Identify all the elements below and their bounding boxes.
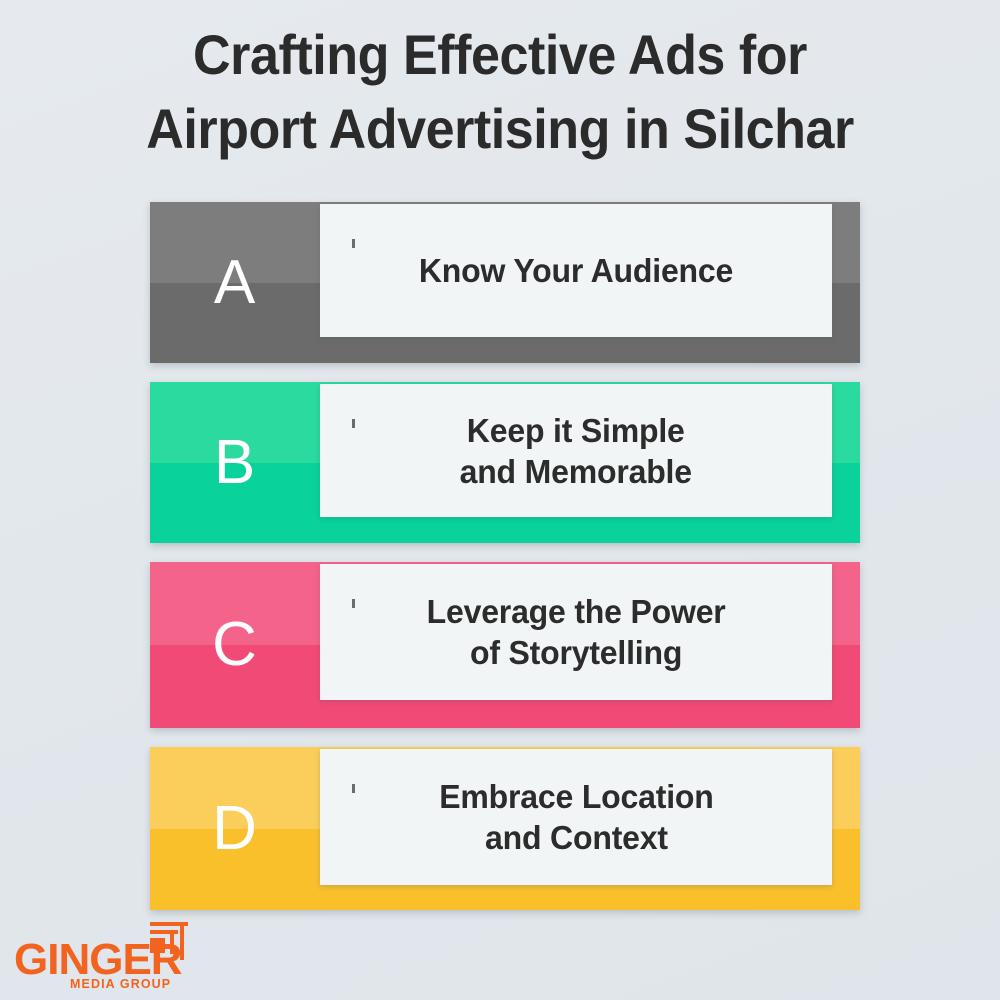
item-text-a: Know Your Audience [419,250,733,291]
title-line-1: Crafting Effective Ads for [35,18,965,92]
item-card-a: Know Your Audience [320,204,832,337]
list-item-b[interactable]: B Keep it Simple and Memorable [150,382,860,543]
list-item-a[interactable]: A Know Your Audience [150,202,860,363]
brand-logo: GINGER MEDIA GROUP [14,920,204,992]
item-text-d-line1: Embrace Location [439,776,713,817]
item-card-b: Keep it Simple and Memorable [320,384,832,517]
tick-mark-icon [352,419,355,428]
item-text-a-line1: Know Your Audience [419,250,733,291]
tick-mark-icon [352,599,355,608]
tips-list: A Know Your Audience B Keep it Simple an… [150,202,860,929]
item-letter-d: D [150,747,320,910]
infographic-canvas: Crafting Effective Ads for Airport Adver… [0,0,1000,1000]
ginger-mark-icon [146,920,192,964]
item-text-d-line2: and Context [439,817,713,858]
item-text-b-line1: Keep it Simple [460,410,692,451]
list-item-c[interactable]: C Leverage the Power of Storytelling [150,562,860,728]
item-text-d: Embrace Location and Context [439,776,713,858]
item-text-b-line2: and Memorable [460,451,692,492]
item-card-d: Embrace Location and Context [320,749,832,885]
tick-mark-icon [352,784,355,793]
page-title: Crafting Effective Ads for Airport Adver… [0,18,1000,166]
list-item-d[interactable]: D Embrace Location and Context [150,747,860,910]
item-text-c-line2: of Storytelling [427,632,726,673]
tick-mark-icon [352,239,355,248]
item-letter-a: A [150,202,320,363]
item-text-c: Leverage the Power of Storytelling [427,591,726,673]
item-letter-c: C [150,562,320,728]
title-line-2: Airport Advertising in Silchar [35,92,965,166]
item-text-c-line1: Leverage the Power [427,591,726,632]
item-card-c: Leverage the Power of Storytelling [320,564,832,700]
item-letter-b: B [150,382,320,543]
item-text-b: Keep it Simple and Memorable [460,410,692,492]
logo-subtitle: MEDIA GROUP [70,978,171,991]
